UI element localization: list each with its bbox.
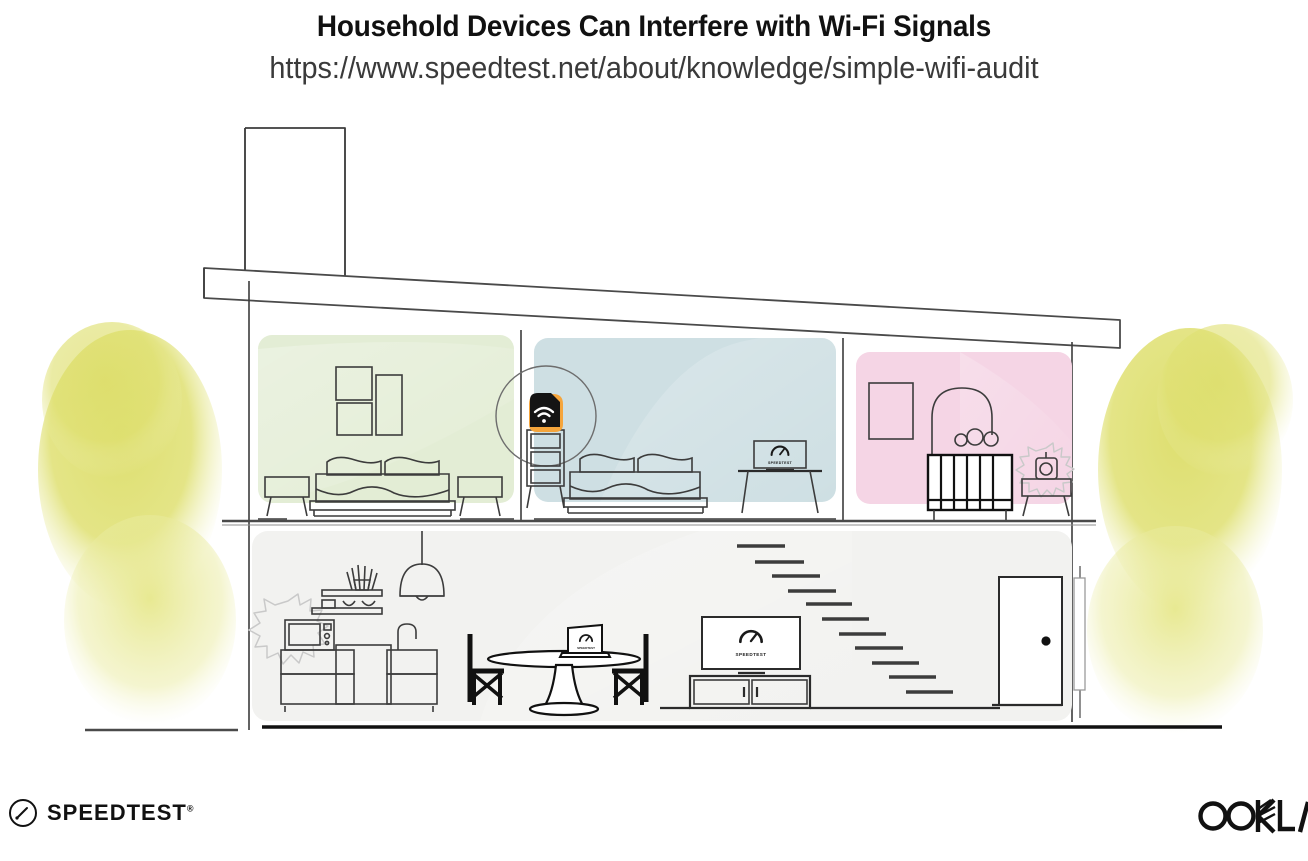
upper-floor-slab <box>222 521 1096 525</box>
speedtest-wordmark-text: SPEEDTEST <box>47 800 187 825</box>
front-door[interactable] <box>992 577 1062 705</box>
illustration-page: Household Devices Can Interfere with Wi-… <box>0 0 1308 861</box>
speedtest-wordmark: SPEEDTEST® <box>47 800 193 826</box>
ookla-wordmark <box>1196 796 1308 836</box>
door-knob-icon <box>1041 636 1050 645</box>
speedometer-gauge-icon <box>8 798 38 828</box>
svg-text:SPEEDTEST: SPEEDTEST <box>736 652 767 657</box>
speedtest-logo: SPEEDTEST® <box>8 798 193 828</box>
sidelight-window <box>1074 566 1085 718</box>
foliage-right <box>1087 324 1293 734</box>
house-cutaway-illustration: SPEEDTEST <box>0 0 1308 861</box>
crib <box>928 455 1012 521</box>
svg-text:SPEEDTEST: SPEEDTEST <box>577 646 595 650</box>
tv-speedtest[interactable]: SPEEDTEST <box>702 617 800 673</box>
chimney <box>245 128 345 283</box>
nursery-pink <box>856 352 1074 521</box>
svg-text:SPEEDTEST: SPEEDTEST <box>768 461 793 465</box>
ookla-chevron-icon <box>1258 800 1275 832</box>
wifi-router[interactable] <box>529 393 563 432</box>
laptop-speedtest[interactable]: SPEEDTEST <box>560 625 610 657</box>
ground-line <box>85 727 1222 730</box>
foliage-left <box>38 322 236 725</box>
bedroom-green <box>258 335 514 519</box>
speedtest-tm: ® <box>187 804 194 814</box>
ookla-logo <box>1196 796 1308 841</box>
bedroom-blue: SPEEDTEST <box>534 335 836 519</box>
